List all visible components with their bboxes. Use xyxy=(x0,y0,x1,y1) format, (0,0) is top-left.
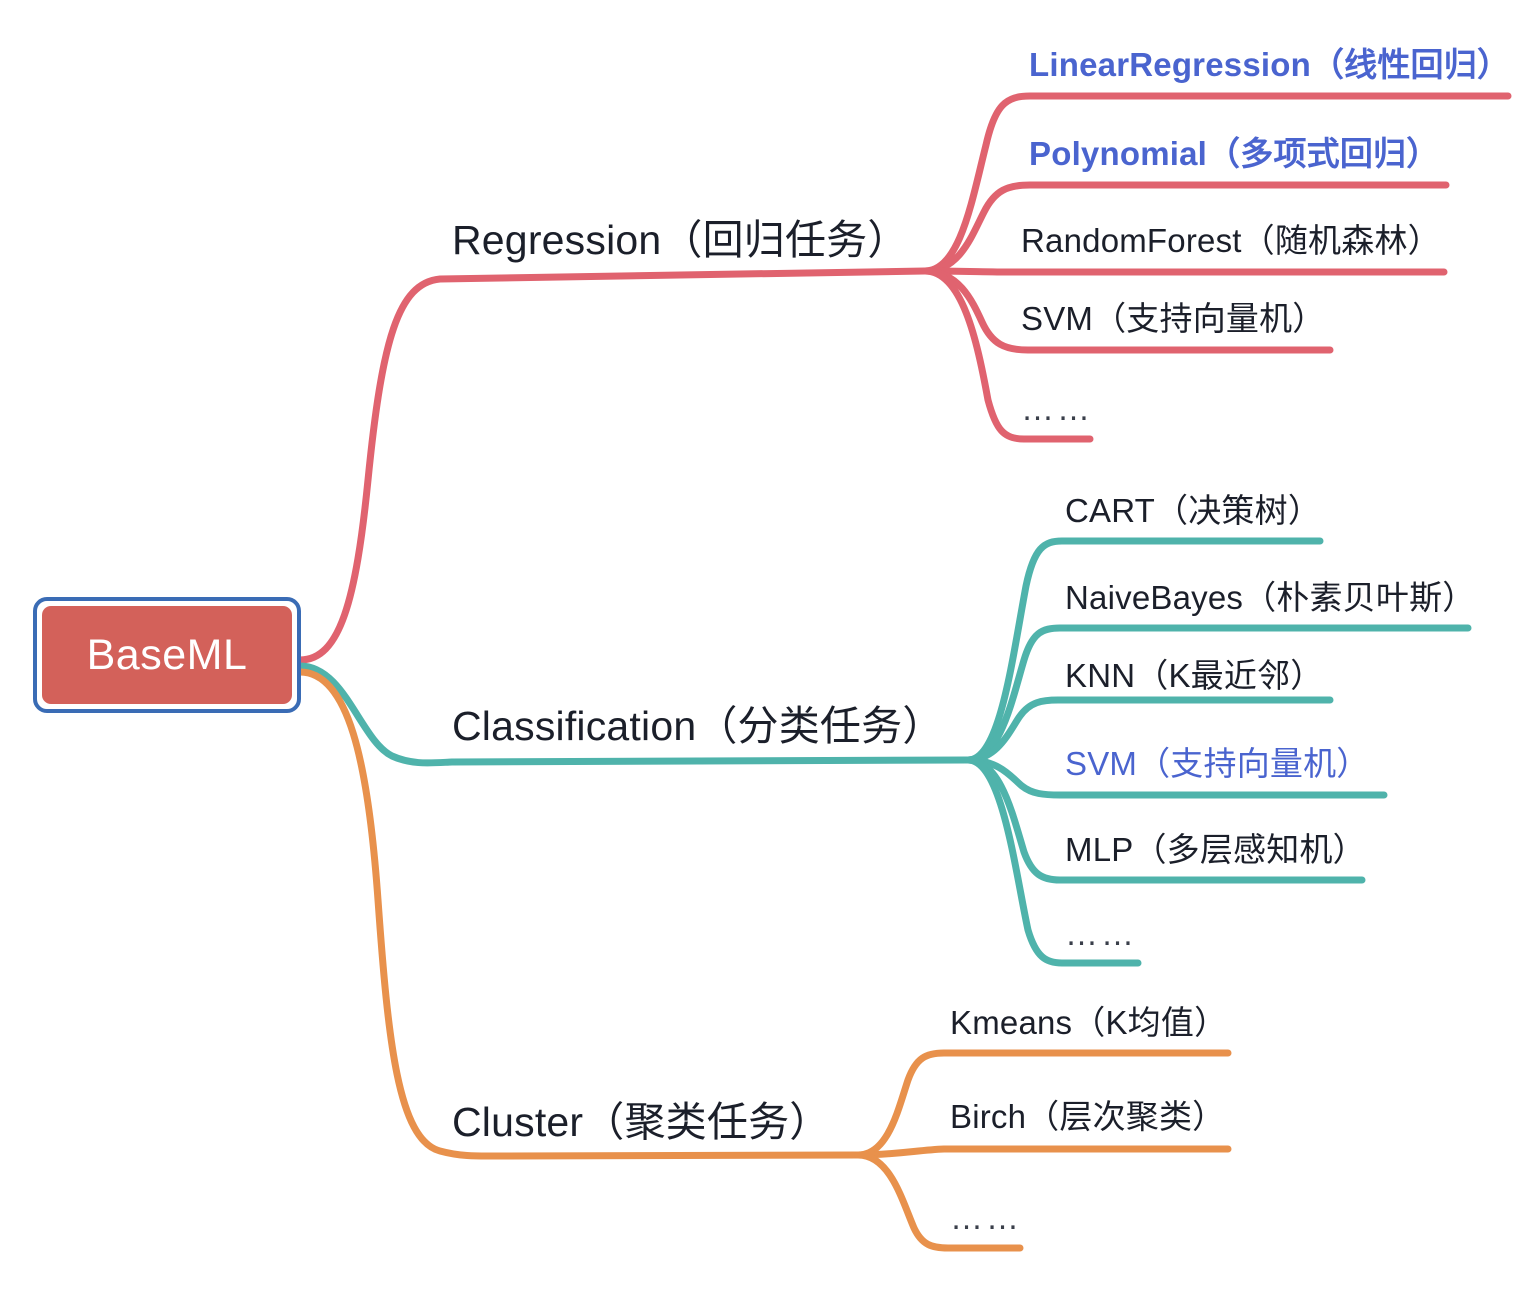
root-node-label: BaseML xyxy=(87,631,248,680)
leaf-label-cluster-kmeans[interactable]: Kmeans（K均值） xyxy=(950,1006,1227,1039)
leaf-label-classification-svm[interactable]: SVM（支持向量机） xyxy=(1065,747,1370,780)
edge-root-to-regression xyxy=(300,271,925,660)
edge-classification-leaf-1 xyxy=(968,628,1468,760)
root-node[interactable]: BaseML xyxy=(33,597,301,713)
branch-label-cluster[interactable]: Cluster（聚类任务） xyxy=(452,1102,830,1143)
leaf-label-classification-mlp[interactable]: MLP（多层感知机） xyxy=(1065,833,1366,866)
leaf-label-regression-polynomial[interactable]: Polynomial（多项式回归） xyxy=(1029,137,1439,170)
leaf-label-regression-more[interactable]: …… xyxy=(1021,392,1093,425)
leaf-label-classification-cart[interactable]: CART（决策树） xyxy=(1065,494,1321,527)
branch-label-classification[interactable]: Classification（分类任务） xyxy=(452,706,944,747)
leaf-label-classification-more[interactable]: …… xyxy=(1065,917,1137,950)
leaf-label-classification-knn[interactable]: KNN（K最近邻） xyxy=(1065,659,1324,692)
leaf-label-regression-svm[interactable]: SVM（支持向量机） xyxy=(1021,302,1326,335)
leaf-label-regression-linearregression[interactable]: LinearRegression（线性回归） xyxy=(1029,48,1510,81)
branch-label-regression[interactable]: Regression（回归任务） xyxy=(452,220,909,261)
leaf-label-classification-naivebayes[interactable]: NaiveBayes（朴素贝叶斯） xyxy=(1065,581,1476,614)
leaf-label-regression-randomforest[interactable]: RandomForest（随机森林） xyxy=(1021,224,1441,257)
edge-group-regression xyxy=(300,96,1508,660)
mindmap-canvas: BaseML Regression（回归任务） Classification（分… xyxy=(0,0,1530,1294)
edge-classification-leaf-0 xyxy=(968,541,1320,760)
edge-regression-leaf-2 xyxy=(925,271,1444,272)
edge-cluster-leaf-1 xyxy=(858,1149,1228,1155)
leaf-label-cluster-more[interactable]: …… xyxy=(950,1201,1022,1234)
leaf-label-cluster-birch[interactable]: Birch（层次聚类） xyxy=(950,1100,1225,1133)
root-node-fill: BaseML xyxy=(42,606,292,704)
